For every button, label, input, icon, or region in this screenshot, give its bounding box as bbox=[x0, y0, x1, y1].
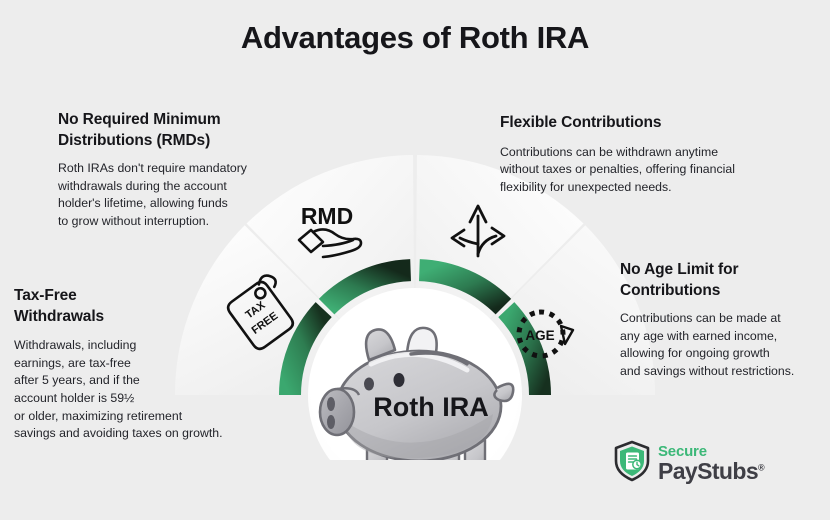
registered-mark: ® bbox=[758, 462, 764, 472]
block-body: Roth IRAs don't require mandatory withdr… bbox=[58, 160, 290, 230]
center-label: Roth IRA bbox=[373, 392, 488, 422]
shield-document-icon bbox=[613, 440, 651, 487]
page-title: Advantages of Roth IRA bbox=[0, 20, 830, 56]
infographic-canvas: Advantages of Roth IRA bbox=[0, 0, 830, 520]
block-no-required-minimum-distributions: No Required Minimum Distributions (RMDs)… bbox=[58, 110, 290, 231]
block-body: Contributions can be withdrawn anytime w… bbox=[500, 144, 772, 197]
block-heading: No Age Limit for Contributions bbox=[620, 260, 825, 301]
block-body: Contributions can be made at any age wit… bbox=[620, 310, 825, 380]
brand-logo[interactable]: Secure PayStubs® bbox=[613, 440, 793, 490]
svg-text:AGE: AGE bbox=[525, 328, 554, 343]
svg-text:RMD: RMD bbox=[301, 203, 353, 229]
block-tax-free-withdrawals: Tax-Free Withdrawals Withdrawals, includ… bbox=[14, 286, 258, 443]
block-heading: Tax-Free Withdrawals bbox=[14, 286, 258, 327]
logo-paystubs-text: PayStubs® bbox=[658, 460, 764, 483]
block-no-age-limit-for-contributions: No Age Limit for Contributions Contribut… bbox=[620, 260, 825, 381]
block-flexible-contributions: Flexible Contributions Contributions can… bbox=[500, 113, 772, 196]
block-body: Withdrawals, including earnings, are tax… bbox=[14, 337, 258, 442]
block-heading: No Required Minimum Distributions (RMDs) bbox=[58, 110, 290, 151]
logo-secure-text: Secure bbox=[658, 444, 764, 459]
block-heading: Flexible Contributions bbox=[500, 113, 772, 134]
